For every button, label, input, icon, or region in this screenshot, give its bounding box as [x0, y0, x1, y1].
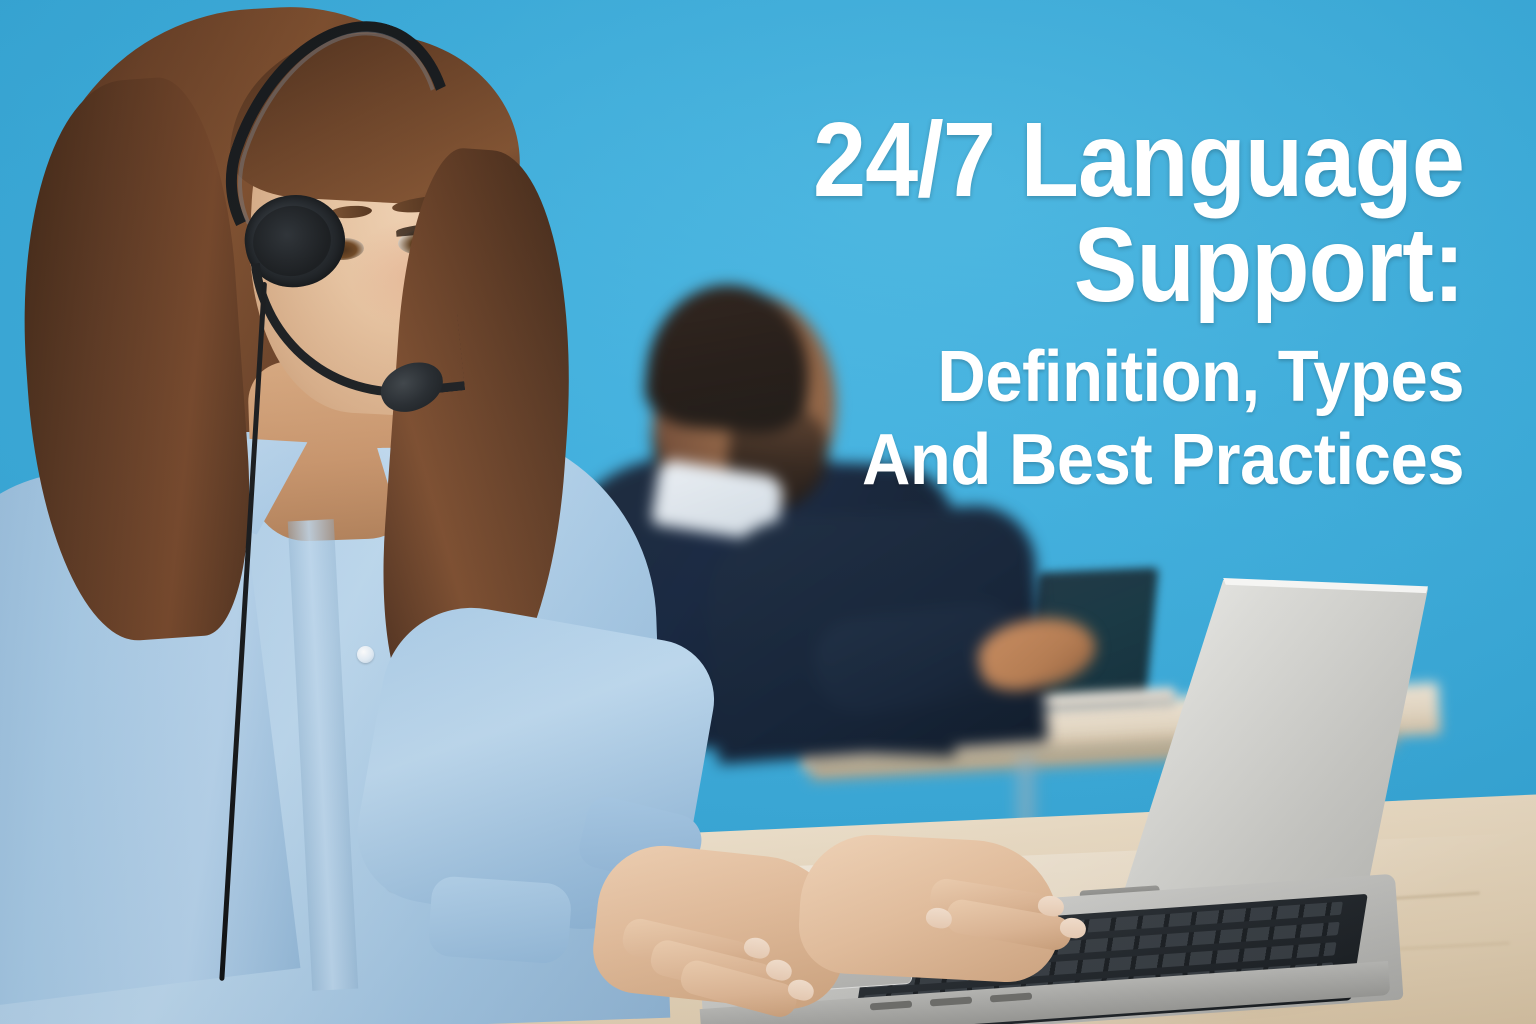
hero-banner: 24/7 Language Support: Definition, Types…: [0, 0, 1536, 1024]
shirt-button: [357, 646, 374, 663]
subhead-line-1: Definition, Types: [623, 336, 1464, 420]
page-subtitle: Definition, Types And Best Practices: [623, 336, 1464, 503]
headline-line-1: 24/7 Language: [650, 108, 1464, 213]
hero-text-block: 24/7 Language Support: Definition, Types…: [560, 108, 1464, 503]
agent-left-cuff: [427, 875, 572, 965]
headline-line-2: Support:: [650, 213, 1464, 318]
subhead-line-2: And Best Practices: [623, 419, 1464, 503]
page-title: 24/7 Language Support:: [650, 108, 1464, 318]
